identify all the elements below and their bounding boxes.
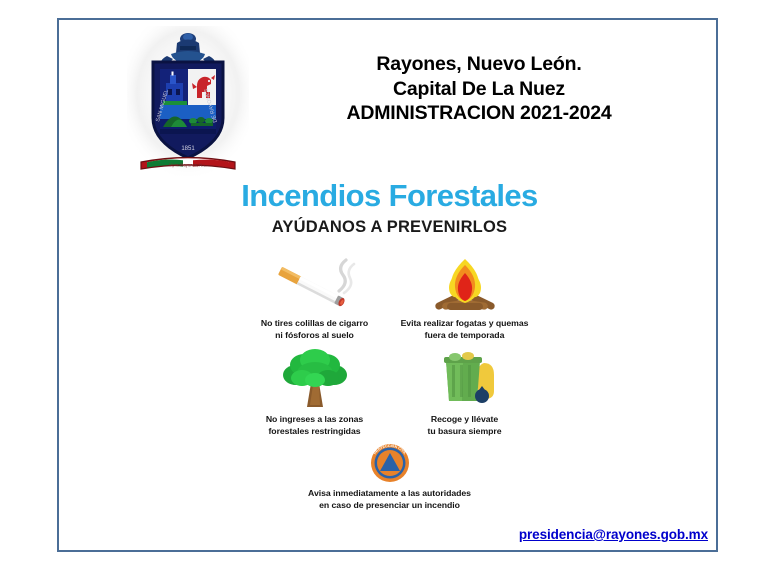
header-title-line-2: Capital De La Nuez [249, 77, 709, 102]
tip-campfire: Evita realizar fogatas y quemas fuera de… [390, 253, 540, 341]
contact-email-link[interactable]: presidencia@rayones.gob.mx [519, 527, 708, 542]
page-subtitle: AYÚDANOS A PREVENIRLOS [59, 218, 720, 237]
tip-caption-line-2: forestales restringidas [268, 426, 360, 436]
tip-caption: No tires colillas de cigarro ni fósforos… [240, 317, 390, 341]
trash-bin-icon [390, 349, 540, 411]
tip-caption-line-2: fuera de temporada [425, 330, 505, 340]
header: SAN MIGUEL DE RAYONES 1851 Mpio. Rayones… [59, 20, 720, 170]
tip-cigarette: No tires colillas de cigarro ni fósforos… [240, 253, 390, 341]
rayones-coat-of-arms: SAN MIGUEL DE RAYONES 1851 Mpio. Rayones… [127, 26, 249, 176]
cigarette-body [277, 266, 345, 307]
emblem-trees [189, 117, 213, 126]
tip-caption-line-1: No ingreses a las zonas [266, 414, 363, 424]
tip-caption-line-1: Recoge y llévate [431, 414, 498, 424]
tips-row-1: No tires colillas de cigarro ni fósforos… [240, 253, 540, 341]
tip-caption-line-1: Avisa inmediatamente a las autoridades [308, 488, 471, 498]
proteccion-civil-logo: PROTECCIÓN CIVIL [240, 441, 540, 485]
cigarette-smoke [339, 260, 354, 293]
emblem-year: 1851 [181, 146, 195, 152]
tree-icon [240, 349, 390, 411]
slide-frame: SAN MIGUEL DE RAYONES 1851 Mpio. Rayones… [57, 18, 718, 552]
tip-caption-line-1: No tires colillas de cigarro [261, 318, 368, 328]
tips-row-2: No ingreses a las zonas forestales restr… [240, 349, 540, 437]
tip-caption-line-1: Evita realizar fogatas y quemas [401, 318, 529, 328]
header-title-line-1: Rayones, Nuevo León. [249, 52, 709, 77]
page-title: Incendios Forestales [59, 180, 720, 213]
tip-report: PROTECCIÓN CIVIL Avisa inmediatamente a … [240, 441, 540, 511]
poster: Incendios Forestales AYÚDANOS A PREVENIR… [59, 180, 720, 511]
emblem-ribbon: Mpio. Rayones, N.L. [141, 158, 235, 170]
tip-caption: Avisa inmediatamente a las autoridades e… [240, 487, 540, 511]
tip-caption-line-2: tu basura siempre [428, 426, 502, 436]
tip-caption: Recoge y llévate tu basura siempre [390, 413, 540, 437]
campfire-icon [390, 253, 540, 315]
tip-trash: Recoge y llévate tu basura siempre [390, 349, 540, 437]
tip-caption: No ingreses a las zonas forestales restr… [240, 413, 390, 437]
header-title-line-3: ADMINISTRACION 2021-2024 [249, 101, 709, 126]
tips-grid: No tires colillas de cigarro ni fósforos… [240, 253, 540, 511]
campfire-flame [449, 259, 481, 303]
tree-canopy [283, 349, 347, 387]
emblem-ribbon-text: Mpio. Rayones, N.L. [169, 162, 207, 167]
tip-caption-line-2: ni fósforos al suelo [275, 330, 354, 340]
trash-bag-blue [475, 389, 489, 403]
cigarette-icon [240, 253, 390, 315]
tip-caption-line-2: en caso de presenciar un incendio [319, 500, 460, 510]
tip-tree: No ingreses a las zonas forestales restr… [240, 349, 390, 437]
tip-caption: Evita realizar fogatas y quemas fuera de… [390, 317, 540, 341]
header-title: Rayones, Nuevo León. Capital De La Nuez … [249, 52, 709, 126]
